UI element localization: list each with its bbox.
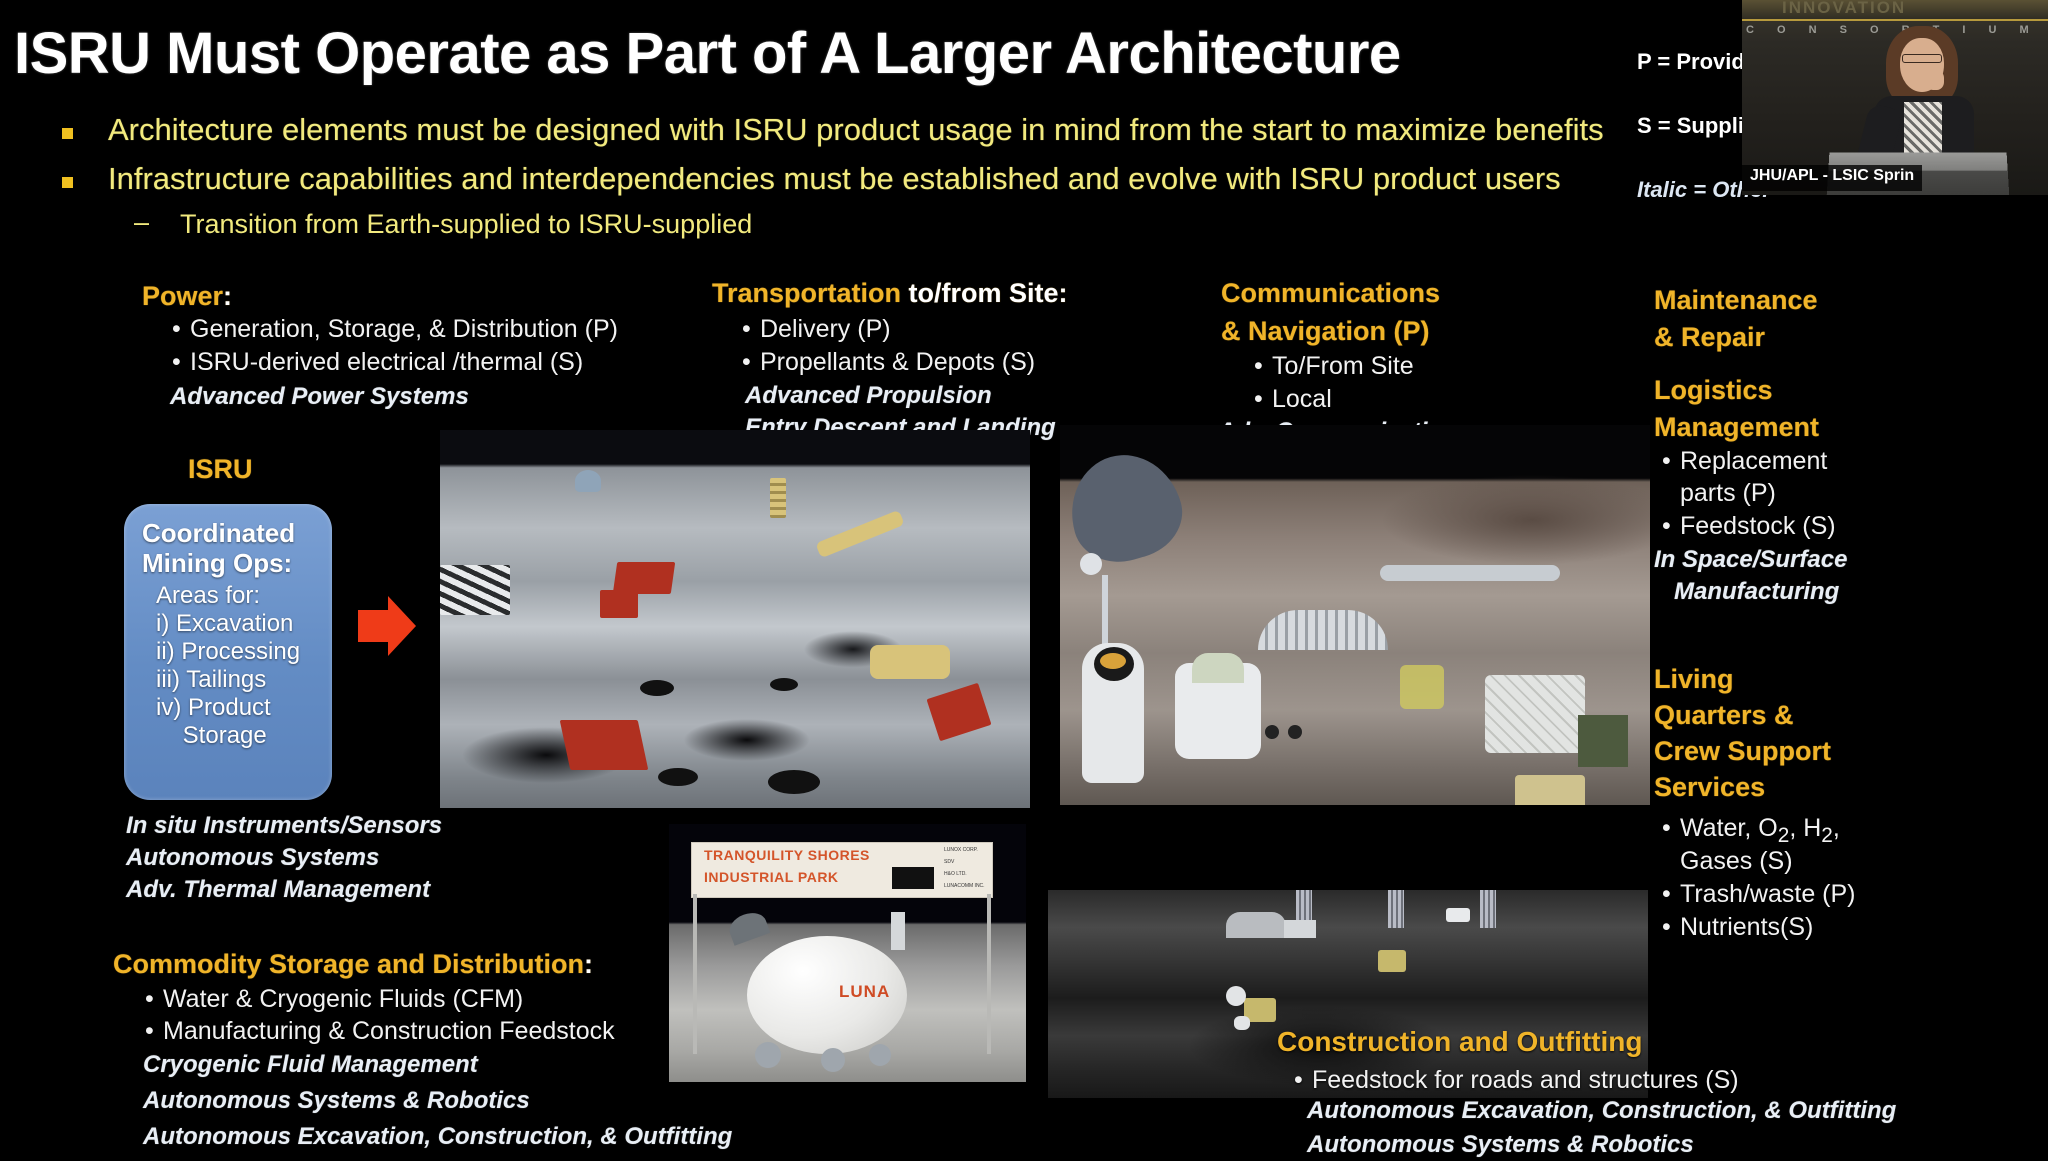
- living-item-1-cont: Gases (S): [1680, 847, 1793, 876]
- mining-box-title-line2: Mining Ops:: [142, 548, 292, 579]
- commodity-italic-1: Cryogenic Fluid Management: [143, 1051, 478, 1079]
- isru-italic-2: Autonomous Systems: [126, 844, 379, 872]
- section-heading-communications-line1: Communications: [1221, 278, 1440, 309]
- section-heading-logistics-line2: Management: [1654, 412, 1819, 443]
- section-heading-living-line2: Quarters &: [1654, 700, 1794, 731]
- section-heading-living-line3: Crew Support: [1654, 736, 1831, 767]
- coordinated-mining-ops-box: Coordinated Mining Ops: Areas for: i) Ex…: [124, 504, 332, 800]
- slide-sub-bullet-1: Transition from Earth-supplied to ISRU-s…: [180, 209, 752, 240]
- section-heading-transportation: Transportation to/from Site:: [712, 278, 1068, 309]
- tranquility-sign-line1: TRANQUILITY SHORES: [704, 847, 870, 863]
- tranquility-sign: TRANQUILITY SHORES INDUSTRIAL PARK LUNOX…: [691, 842, 993, 898]
- video-caption: JHU/APL - LSIC Sprin: [1742, 165, 1922, 191]
- lunar-tanker: LUNA: [747, 936, 907, 1054]
- construction-italic-2: Autonomous Systems & Robotics: [1307, 1131, 1694, 1159]
- lunar-mining-illustration: [440, 430, 1030, 808]
- bullet-marker: [62, 128, 73, 139]
- tanker-label: LUNA: [839, 982, 890, 1002]
- commodity-item-1: Water & Cryogenic Fluids (CFM): [163, 985, 523, 1014]
- section-heading-maintenance-line1: Maintenance: [1654, 285, 1818, 316]
- power-heading-suffix: :: [223, 281, 232, 311]
- construction-item-1: Feedstock for roads and structures (S): [1312, 1066, 1739, 1095]
- tenant-2: SDV: [944, 859, 954, 865]
- logistics-item-1-cont: parts (P): [1680, 479, 1776, 508]
- commodity-italic-2: Autonomous Systems & Robotics: [143, 1087, 530, 1115]
- section-heading-living-line1: Living: [1654, 664, 1734, 695]
- section-heading-construction: Construction and Outfitting: [1277, 1026, 1643, 1058]
- logistics-italic-1: In Space/Surface: [1654, 546, 1847, 574]
- section-heading-communications-line2: & Navigation (P): [1221, 316, 1430, 347]
- transportation-heading-text: Transportation: [712, 278, 901, 308]
- transportation-heading-suffix: to/from Site:: [901, 278, 1068, 308]
- communications-item-1: To/From Site: [1272, 352, 1414, 381]
- right-arrow-icon: [358, 594, 416, 658]
- transportation-item-2: Propellants & Depots (S): [760, 348, 1035, 377]
- transportation-italic-1: Advanced Propulsion: [745, 382, 992, 410]
- power-item-2: ISRU-derived electrical /thermal (S): [190, 348, 583, 377]
- tenant-1: LUNOX CORP.: [944, 847, 978, 853]
- mining-box-line-4: iii) Tailings: [156, 666, 266, 694]
- mining-box-line-2: i) Excavation: [156, 610, 293, 638]
- living-item-2: Trash/waste (P): [1680, 880, 1856, 909]
- mining-box-line-3: ii) Processing: [156, 638, 300, 666]
- communications-item-2: Local: [1272, 385, 1332, 414]
- mining-box-line-1: Areas for:: [156, 582, 260, 610]
- isru-italic-1: In situ Instruments/Sensors: [126, 812, 442, 840]
- banner-innovation-text: INNOVATION: [1782, 0, 1906, 18]
- section-heading-living-line4: Services: [1654, 772, 1765, 803]
- section-heading-maintenance-line2: & Repair: [1654, 322, 1765, 353]
- logistics-italic-2: Manufacturing: [1654, 578, 1839, 606]
- slide-bullet-1: Architecture elements must be designed w…: [108, 112, 1604, 148]
- power-italic-1: Advanced Power Systems: [170, 383, 469, 411]
- logistics-item-1: Replacement: [1680, 447, 1827, 476]
- section-heading-logistics-line1: Logistics: [1654, 375, 1773, 406]
- lunar-base-illustration: [1060, 425, 1650, 805]
- tranquility-shores-illustration: TRANQUILITY SHORES INDUSTRIAL PARK LUNOX…: [669, 824, 1026, 1082]
- sign-panel: [892, 867, 934, 889]
- logistics-item-2: Feedstock (S): [1680, 512, 1836, 541]
- tranquility-sign-line2: INDUSTRIAL PARK: [704, 869, 839, 885]
- tenant-4: LUNACOMM INC.: [944, 883, 985, 889]
- presentation-slide: ISRU Must Operate as Part of A Larger Ar…: [0, 0, 2048, 1161]
- isru-italic-3: Adv. Thermal Management: [126, 876, 430, 904]
- glasses-icon: [1902, 54, 1942, 63]
- transportation-item-1: Delivery (P): [760, 315, 891, 344]
- commodity-italic-3: Autonomous Excavation, Construction, & O…: [143, 1123, 732, 1151]
- power-item-1: Generation, Storage, & Distribution (P): [190, 315, 618, 344]
- mining-box-title-line1: Coordinated: [142, 518, 295, 549]
- mining-box-line-6: Storage: [156, 722, 267, 750]
- commodity-heading-suffix: :: [584, 949, 593, 979]
- living-item-1: Water, O2, H2,: [1680, 814, 1840, 848]
- video-caption-text: JHU/APL - LSIC Sprin: [1750, 167, 1914, 184]
- speaker-hand: [1926, 70, 1944, 90]
- living-item-3: Nutrients(S): [1680, 913, 1813, 942]
- page-title: ISRU Must Operate as Part of A Larger Ar…: [14, 20, 1401, 87]
- bullet-marker: [62, 177, 73, 188]
- commodity-heading-text: Commodity Storage and Distribution: [113, 949, 584, 979]
- power-heading-text: Power: [142, 281, 223, 311]
- speaker-video-overlay[interactable]: INNOVATION C O N S O R T I U M JHU/APL -…: [1742, 0, 2048, 195]
- section-heading-power: Power:: [142, 281, 232, 312]
- section-heading-isru: ISRU: [188, 454, 253, 485]
- commodity-item-2: Manufacturing & Construction Feedstock: [163, 1017, 615, 1046]
- slide-bullet-2: Infrastructure capabilities and interdep…: [108, 161, 1561, 197]
- mining-box-line-5: iv) Product: [156, 694, 271, 722]
- section-heading-commodity: Commodity Storage and Distribution:: [113, 949, 593, 980]
- tenant-3: H&O LTD.: [944, 871, 967, 877]
- construction-italic-1: Autonomous Excavation, Construction, & O…: [1307, 1097, 1896, 1125]
- dash-marker: –: [134, 207, 149, 238]
